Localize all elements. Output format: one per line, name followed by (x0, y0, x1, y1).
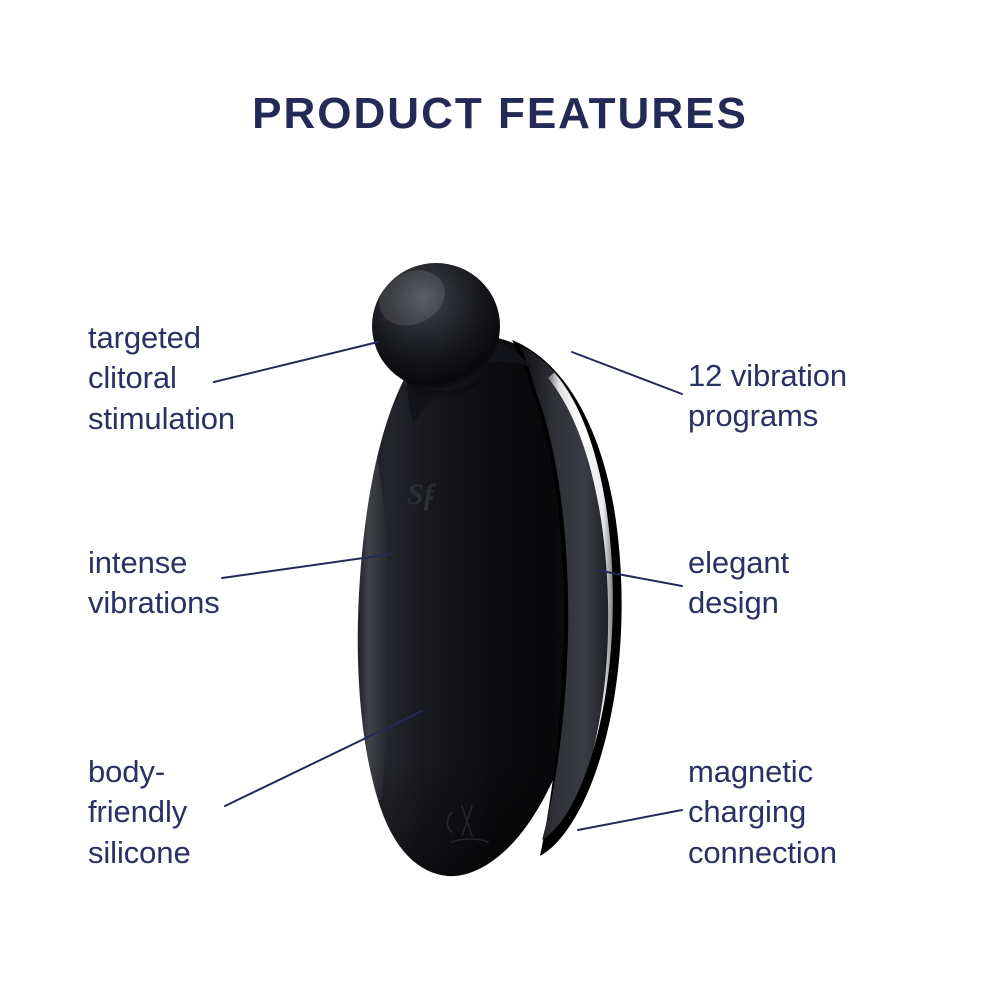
product-wing-dark-band (520, 346, 613, 840)
product-body-group (340, 335, 620, 890)
product-ball-gloss (370, 260, 453, 335)
leader-line-body-friendly-silicone (225, 711, 422, 806)
feature-line: elegant (688, 543, 789, 583)
leader-line-12-vibration-programs (572, 352, 682, 394)
leader-line-intense-vibrations (222, 554, 392, 578)
feature-label-elegant-design: elegant design (688, 543, 789, 624)
feature-line: body- (88, 752, 191, 792)
leader-line-magnetic-charging-connection (578, 810, 682, 830)
feature-label-magnetic-charging-connection: magnetic charging connection (688, 752, 837, 873)
product-body (358, 335, 594, 876)
product-neck (407, 336, 532, 424)
product-ball-neck-shadow (400, 372, 486, 404)
feature-line: charging (688, 792, 837, 832)
product-body-sheen (352, 430, 389, 800)
svg-text:Sf: Sf (407, 478, 437, 511)
feature-label-intense-vibrations: intense vibrations (88, 543, 220, 624)
feature-label-12-vibration-programs: 12 vibration programs (688, 356, 847, 437)
page-title: PRODUCT FEATURES (0, 92, 1000, 136)
product-base-shadow (340, 760, 620, 890)
product-specular-highlight (542, 366, 619, 858)
feature-line: intense (88, 543, 220, 583)
feature-line: targeted (88, 318, 235, 358)
feature-line: clitoral (88, 358, 235, 398)
feature-line: vibrations (88, 583, 220, 623)
brand-logo-sf: Sf (407, 478, 437, 511)
feature-line: silicone (88, 833, 191, 873)
feature-line: friendly (88, 792, 191, 832)
product-wing-outline (512, 340, 622, 856)
feature-line: programs (688, 396, 847, 436)
feature-line: connection (688, 833, 837, 873)
feature-line: stimulation (88, 399, 235, 439)
feature-label-body-friendly-silicone: body- friendly silicone (88, 752, 191, 873)
leader-line-elegant-design (596, 570, 682, 586)
feature-line: 12 vibration (688, 356, 847, 396)
product-features-infographic: PRODUCT FEATURES (0, 0, 1000, 1000)
feature-line: magnetic (688, 752, 837, 792)
product-ball-tip (370, 260, 500, 403)
feature-line: design (688, 583, 789, 623)
product-base-markings (448, 806, 489, 842)
feature-label-targeted-clitoral-stimulation: targeted clitoral stimulation (88, 318, 235, 439)
product-wing-group (512, 340, 622, 858)
leader-line-targeted-clitoral-stimulation (214, 342, 378, 382)
